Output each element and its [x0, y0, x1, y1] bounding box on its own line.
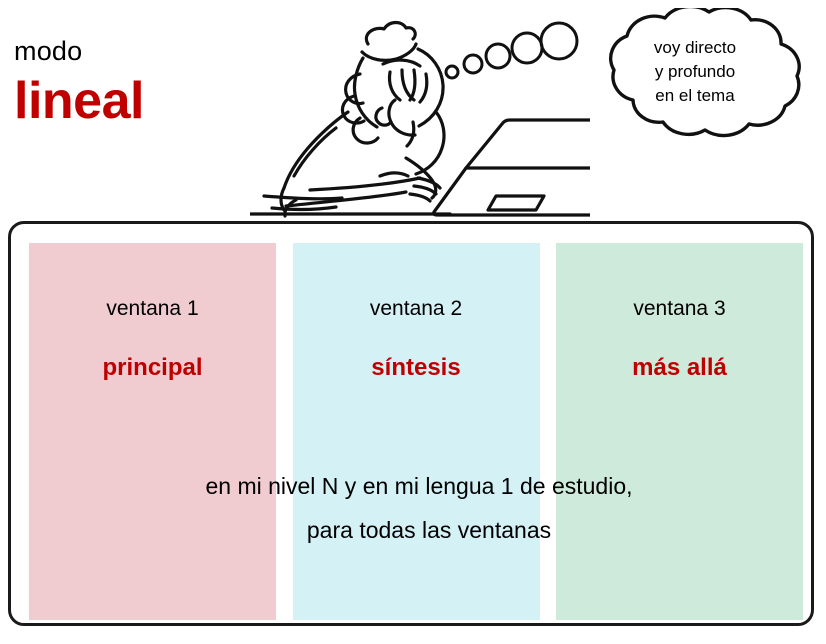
thought-dots-icon [440, 10, 580, 90]
heading-block: modo lineal [14, 36, 274, 130]
window-column-1[interactable]: ventana 1 principal [29, 243, 276, 620]
window-3-title: ventana 3 [556, 296, 803, 322]
window-3-name: más allá [556, 353, 803, 383]
bubble-line-1: voy directo [600, 36, 790, 60]
mode-title: lineal [14, 72, 274, 130]
windows-column-list: ventana 1 principal ventana 2 síntesis v… [29, 243, 803, 620]
bubble-line-2: y profundo [600, 60, 790, 84]
mode-kicker: modo [14, 36, 274, 66]
window-1-name: principal [29, 353, 276, 383]
window-1-title: ventana 1 [29, 296, 276, 322]
window-column-2[interactable]: ventana 2 síntesis [293, 243, 540, 620]
window-2-name: síntesis [293, 353, 540, 383]
windows-panel: ventana 1 principal ventana 2 síntesis v… [8, 221, 814, 626]
window-column-3[interactable]: ventana 3 más allá [556, 243, 803, 620]
bubble-line-3: en el tema [600, 84, 790, 108]
thought-bubble-text: voy directo y profundo en el tema [600, 36, 790, 108]
window-2-title: ventana 2 [293, 296, 540, 322]
